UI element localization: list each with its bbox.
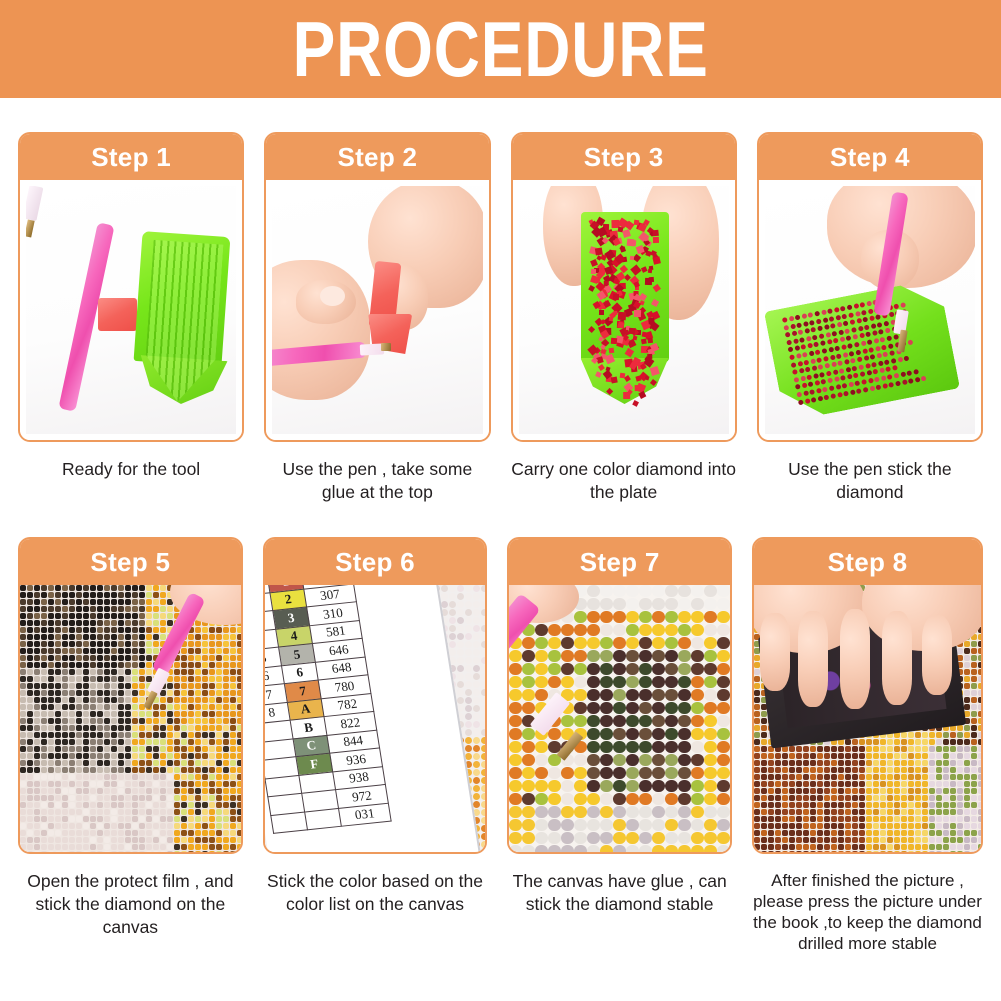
hands-glue-illustration [272, 186, 482, 434]
canvas-mosaic-illustration [20, 585, 241, 852]
step-caption-4: Use the pen stick the diamond [757, 458, 983, 504]
step-header-6: Step 6 [265, 539, 486, 585]
chart-cell-symbol [304, 808, 341, 830]
color-chart-rows: 113002230733310445815564666648777808A782… [265, 585, 392, 834]
steps-row-bottom: Step 5 Open the protect film , and stick… [18, 537, 983, 954]
finger-5-icon [922, 615, 952, 695]
step-photo-6: 113002230733310445815564666648777808A782… [265, 585, 486, 852]
chart-cell-dmc: 031 [338, 803, 391, 827]
step-cell-7: Step 7 The canvas have glue , can stick … [507, 537, 732, 954]
color-chart-illustration: 113002230733310445815564666648777808A782… [265, 585, 486, 852]
step-cell-4: Step 4 Use the pen stick the d [757, 132, 983, 504]
step-header-3: Step 3 [513, 134, 735, 180]
tray-with-diamonds-illustration [519, 186, 729, 434]
step-card-4[interactable]: Step 4 [757, 132, 983, 442]
steps-grid: Step 1 Ready for the tool [0, 132, 1001, 954]
step-photo-2 [266, 180, 488, 440]
step-header-8: Step 8 [754, 539, 981, 585]
chart-cell-no [270, 812, 307, 834]
step-caption-8: After finished the picture , please pres… [746, 870, 989, 954]
step-caption-7: The canvas have glue , can stick the dia… [507, 870, 732, 916]
pen-metal-tip-icon [381, 343, 391, 351]
color-chart-table: 113002230733310445815564666648777808A782… [265, 585, 468, 834]
step-card-1[interactable]: Step 1 [18, 132, 244, 442]
steps-row-top: Step 1 Ready for the tool [18, 132, 983, 504]
finger-2-icon [798, 611, 828, 707]
red-diamond-pile-icon [581, 214, 671, 404]
step-caption-6: Stick the color based on the color list … [263, 870, 488, 916]
pen-picking-diamond-illustration [765, 186, 975, 434]
glue-wax-square-icon [98, 298, 137, 331]
step-photo-7 [509, 585, 730, 852]
step-cell-8: Step 8 [752, 537, 983, 954]
closeup-drills-illustration [509, 585, 730, 852]
tool-kit-illustration [26, 186, 236, 434]
finger-1-icon [760, 613, 790, 691]
step-cell-6: Step 6 113002230733310445815564666648777… [263, 537, 488, 954]
pressing-book-illustration [754, 585, 981, 852]
step-cell-3: Step 3 Carry one color diamond into the … [511, 132, 737, 504]
step-header-4: Step 4 [759, 134, 981, 180]
step-card-6[interactable]: Step 6 113002230733310445815564666648777… [263, 537, 488, 854]
step-caption-3: Carry one color diamond into the plate [511, 458, 737, 504]
step-photo-3 [513, 180, 735, 440]
step-card-3[interactable]: Step 3 [511, 132, 737, 442]
step-header-2: Step 2 [266, 134, 488, 180]
step-card-2[interactable]: Step 2 [264, 132, 490, 442]
step-photo-4 [759, 180, 981, 440]
step-photo-5 [20, 585, 241, 852]
page-header-banner: PROCEDURE [0, 0, 1001, 98]
step-caption-5: Open the protect film , and stick the di… [18, 870, 243, 939]
step-cell-1: Step 1 Ready for the tool [18, 132, 244, 504]
sunflower-mosaic-icon [20, 585, 241, 852]
step-header-1: Step 1 [20, 134, 242, 180]
pen-barrel-clear-icon [26, 186, 43, 221]
page-title: PROCEDURE [292, 10, 708, 88]
pen-metal-tip-icon [26, 219, 35, 237]
step-header-5: Step 5 [20, 539, 241, 585]
step-photo-8 [754, 585, 981, 852]
step-card-7[interactable]: Step 7 [507, 537, 732, 854]
step-caption-2: Use the pen , take some glue at the top [264, 458, 490, 504]
step-photo-1 [20, 180, 242, 440]
step-header-7: Step 7 [509, 539, 730, 585]
finger-4-icon [882, 611, 912, 705]
step-cell-5: Step 5 Open the protect film , and stick… [18, 537, 243, 954]
step-cell-2: Step 2 [264, 132, 490, 504]
finger-3-icon [840, 609, 870, 709]
step-card-5[interactable]: Step 5 [18, 537, 243, 854]
step-card-8[interactable]: Step 8 [752, 537, 983, 854]
step-caption-1: Ready for the tool [18, 458, 244, 481]
